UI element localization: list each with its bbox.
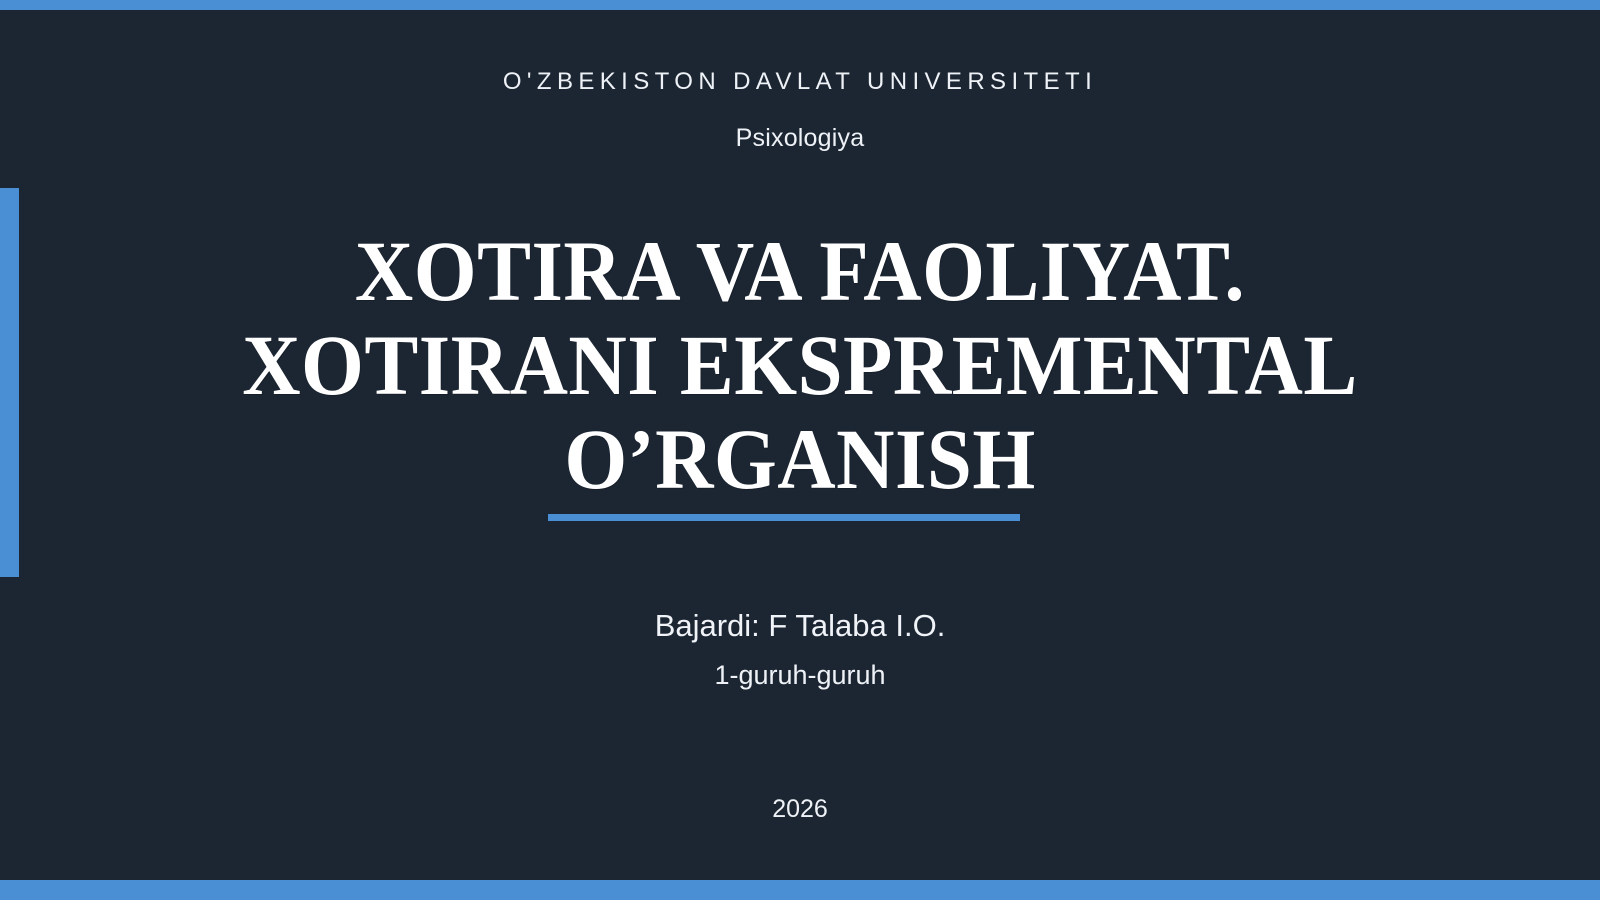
subject-name: Psixologiya — [0, 124, 1600, 153]
bottom-accent-bar — [0, 880, 1600, 900]
title-line-2: XOTIRANI EKSPREMENTAL — [48, 318, 1552, 412]
group-name: 1-guruh-guruh — [0, 660, 1600, 691]
slide-title: XOTIRA VA FAOLIYAT. XOTIRANI EKSPREMENTA… — [48, 224, 1552, 506]
title-slide: O'ZBEKISTON DAVLAT UNIVERSITETI Psixolog… — [0, 0, 1600, 900]
left-accent-bar — [0, 188, 19, 577]
title-line-3: O’RGANISH — [48, 412, 1552, 506]
author-name: Bajardi: F Talaba I.O. — [0, 608, 1600, 644]
organization-name: O'ZBEKISTON DAVLAT UNIVERSITETI — [0, 68, 1600, 96]
title-line-1: XOTIRA VA FAOLIYAT. — [48, 224, 1552, 318]
top-accent-bar — [0, 0, 1600, 10]
year-label: 2026 — [0, 795, 1600, 824]
title-divider — [548, 514, 1020, 521]
